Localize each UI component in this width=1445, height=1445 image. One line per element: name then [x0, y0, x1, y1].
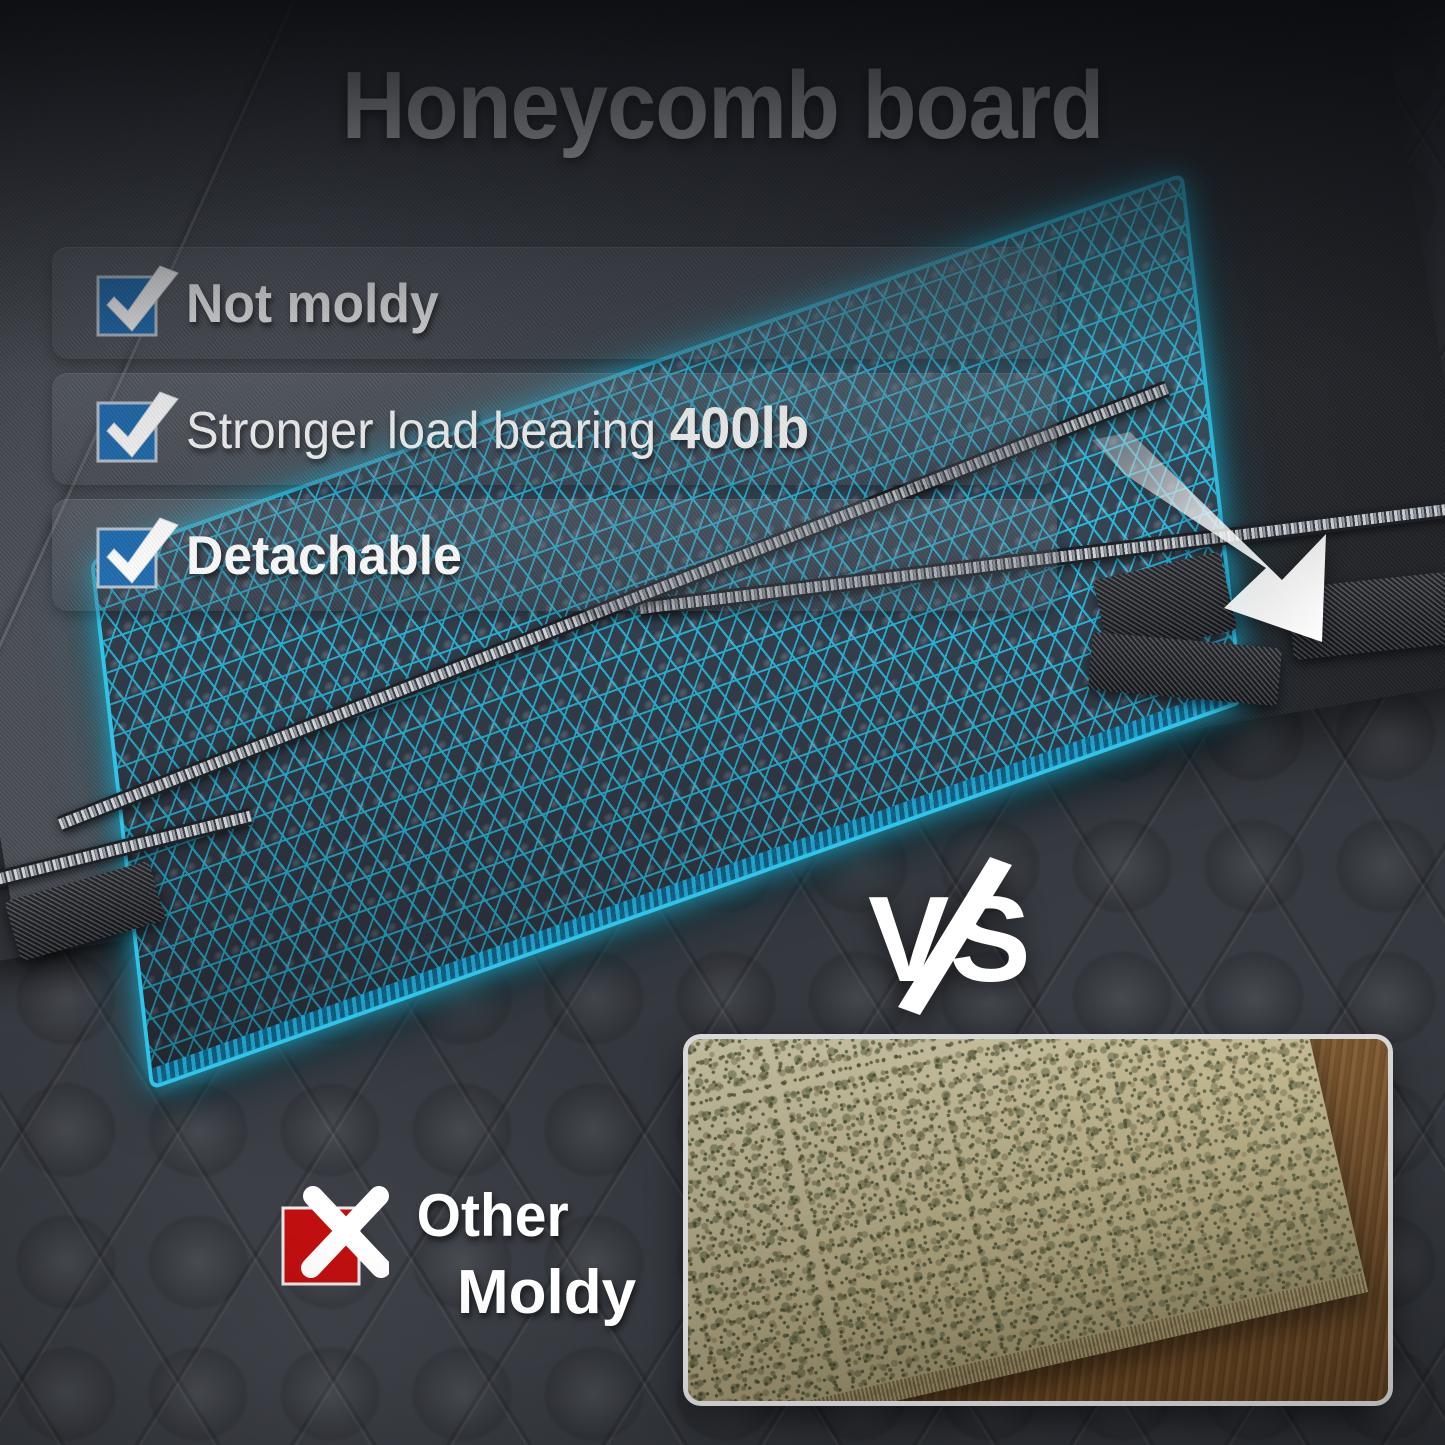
page-title: Honeycomb board	[58, 58, 1387, 154]
infographic-canvas: Honeycomb board Not moldy Stronger load …	[0, 0, 1445, 1445]
moldy-label: Moldy	[457, 1262, 636, 1324]
negative-comparison-label: Other Moldy	[281, 1182, 636, 1324]
feature-row-load-bearing[interactable]: Stronger load bearing 400lb	[52, 373, 1057, 485]
feature-row-not-moldy[interactable]: Not moldy	[52, 247, 1057, 359]
feature-label: Not moldy	[186, 276, 439, 331]
negative-labels: Other Moldy	[411, 1186, 636, 1324]
versus-badge: VS	[862, 855, 1042, 1015]
red-x-icon	[281, 1182, 389, 1294]
blue-check-icon	[94, 515, 180, 595]
down-right-arrow-icon	[1090, 430, 1390, 670]
feature-emphasis: 400lb	[670, 396, 809, 461]
blue-check-icon	[94, 389, 180, 469]
feature-row-detachable[interactable]: Detachable	[52, 499, 1057, 611]
feature-list: Not moldy Stronger load bearing 400lb De…	[52, 247, 1057, 625]
inset-shading	[688, 1039, 1388, 1401]
feature-label-group: Stronger load bearing 400lb	[186, 400, 809, 458]
moldy-board-photo	[683, 1034, 1393, 1406]
blue-check-icon	[94, 263, 180, 343]
feature-label: Detachable	[186, 528, 462, 583]
feature-label: Stronger load bearing	[186, 402, 670, 460]
other-label: Other	[417, 1186, 631, 1246]
